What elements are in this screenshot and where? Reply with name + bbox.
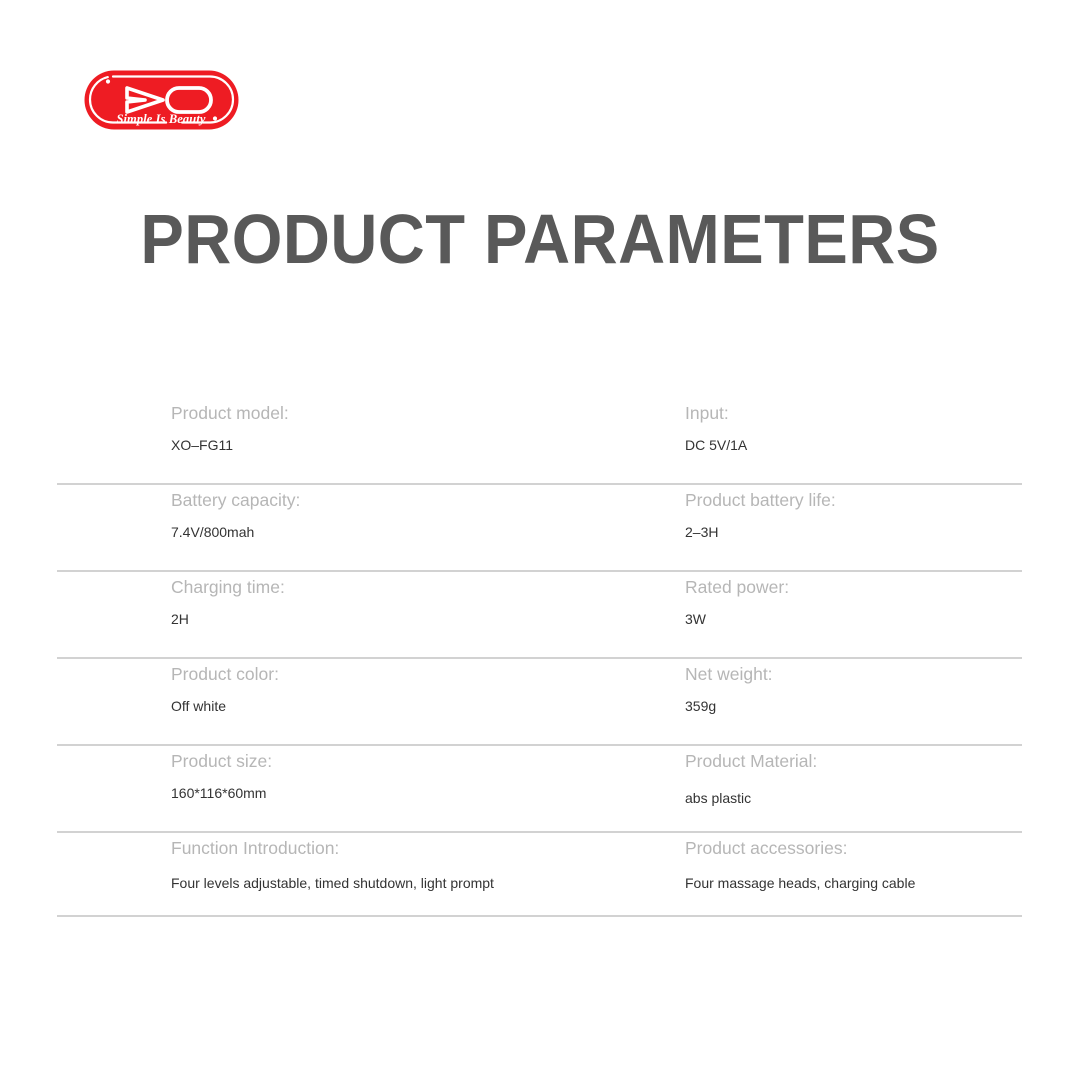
spec-cell-product-color: Product color: Off white bbox=[171, 659, 671, 715]
spec-label: Product accessories: bbox=[685, 833, 1015, 858]
spec-value: 359g bbox=[685, 684, 1015, 715]
spec-label: Rated power: bbox=[685, 572, 1015, 597]
spec-label: Net weight: bbox=[685, 659, 1015, 684]
spec-cell-rated-power: Rated power: 3W bbox=[685, 572, 1015, 628]
spec-value: 160*116*60mm bbox=[171, 771, 671, 802]
spec-cell-net-weight: Net weight: 359g bbox=[685, 659, 1015, 715]
spec-value: 3W bbox=[685, 597, 1015, 628]
brand-logo: Simple Is Beauty bbox=[83, 69, 240, 131]
spec-cell-product-accessories: Product accessories: Four massage heads,… bbox=[685, 833, 1015, 892]
spec-label: Product size: bbox=[171, 746, 671, 771]
spec-cell-battery-capacity: Battery capacity: 7.4V/800mah bbox=[171, 485, 671, 541]
spec-value: abs plastic bbox=[685, 771, 1015, 807]
xo-brand-logo-icon: Simple Is Beauty bbox=[83, 69, 240, 131]
spec-cell-product-material: Product Material: abs plastic bbox=[685, 746, 1015, 807]
table-row: Product color: Off white Net weight: 359… bbox=[57, 659, 1022, 746]
spec-value: Four levels adjustable, timed shutdown, … bbox=[171, 858, 671, 892]
spec-cell-charging-time: Charging time: 2H bbox=[171, 572, 671, 628]
spec-cell-product-model: Product model: XO–FG11 bbox=[171, 398, 671, 454]
spec-value: 2H bbox=[171, 597, 671, 628]
table-row: Product model: XO–FG11 Input: DC 5V/1A bbox=[57, 398, 1022, 485]
spec-cell-function-introduction: Function Introduction: Four levels adjus… bbox=[171, 833, 671, 892]
table-row: Battery capacity: 7.4V/800mah Product ba… bbox=[57, 485, 1022, 572]
spec-cell-input: Input: DC 5V/1A bbox=[685, 398, 1015, 454]
spec-value: Off white bbox=[171, 684, 671, 715]
spec-label: Product battery life: bbox=[685, 485, 1015, 510]
spec-cell-product-battery-life: Product battery life: 2–3H bbox=[685, 485, 1015, 541]
spec-label: Battery capacity: bbox=[171, 485, 671, 510]
spec-label: Charging time: bbox=[171, 572, 671, 597]
spec-label: Function Introduction: bbox=[171, 833, 671, 858]
table-row: Product size: 160*116*60mm Product Mater… bbox=[57, 746, 1022, 833]
spec-label: Product Material: bbox=[685, 746, 1015, 771]
spec-label: Product model: bbox=[171, 398, 671, 423]
brand-tagline: Simple Is Beauty bbox=[116, 112, 205, 126]
spec-value: 7.4V/800mah bbox=[171, 510, 671, 541]
spec-value: XO–FG11 bbox=[171, 423, 671, 454]
table-row: Charging time: 2H Rated power: 3W bbox=[57, 572, 1022, 659]
product-parameters-table: Product model: XO–FG11 Input: DC 5V/1A B… bbox=[57, 398, 1022, 917]
spec-label: Product color: bbox=[171, 659, 671, 684]
spec-value: Four massage heads, charging cable bbox=[685, 858, 1015, 892]
spec-label: Input: bbox=[685, 398, 1015, 423]
spec-value: 2–3H bbox=[685, 510, 1015, 541]
spec-cell-product-size: Product size: 160*116*60mm bbox=[171, 746, 671, 802]
table-row: Function Introduction: Four levels adjus… bbox=[57, 833, 1022, 917]
page-title: PRODUCT PARAMETERS bbox=[38, 200, 1042, 278]
spec-value: DC 5V/1A bbox=[685, 423, 1015, 454]
